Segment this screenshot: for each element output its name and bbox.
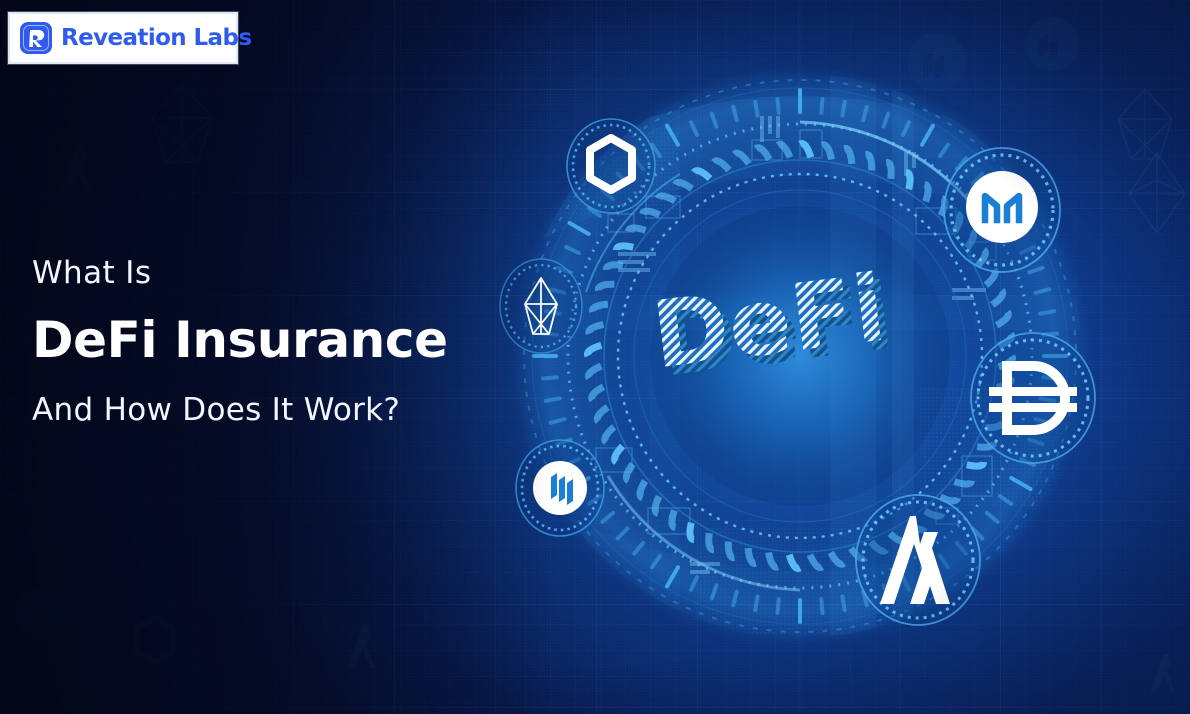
headline-line-1: What Is (32, 258, 502, 289)
brand-logo-plate[interactable]: Reveation Labs (8, 12, 238, 64)
headline-line-2: DeFi Insurance (32, 315, 502, 365)
reveation-r-logo-icon (19, 21, 53, 55)
defi-insurance-banner: DeFi DeFi (0, 0, 1190, 714)
headline-line-3: And How Does It Work? (32, 395, 502, 426)
headline-block: What Is DeFi Insurance And How Does It W… (32, 258, 502, 426)
brand-name: Reveation Labs (61, 25, 251, 51)
